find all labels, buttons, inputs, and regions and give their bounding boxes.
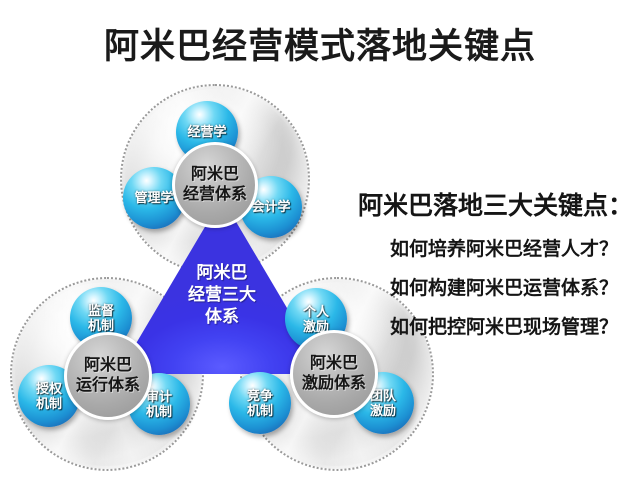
hub-label: 阿米巴 运行体系 — [76, 356, 140, 396]
sphere-incentive-left[interactable]: 竞争 机制 — [229, 372, 291, 434]
hub-label: 阿米巴 经营体系 — [183, 165, 247, 205]
sphere-label-line-1: 个人 — [303, 304, 329, 319]
slide-canvas: 阿米巴经营模式落地关键点 阿米巴 经营三大 体系 经营学 管理学 — [0, 0, 640, 480]
hub-label: 阿米巴 激励体系 — [302, 354, 366, 394]
key-points-panel: 阿米巴落地三大关键点： 如何培养阿米巴经营人才？ 如何构建阿米巴运营体系？ 如何… — [358, 186, 636, 339]
sphere-label: 会计学 — [251, 199, 290, 215]
hub-management-system[interactable]: 阿米巴 经营体系 — [172, 142, 258, 228]
sphere-label-line-1: 管理学 — [134, 190, 173, 206]
sphere-label-line-2: 激励 — [370, 403, 396, 418]
sphere-label-line-1: 监督 — [88, 303, 114, 318]
sphere-label-line-1: 审计 — [146, 389, 172, 404]
sphere-label-line-1: 经营学 — [187, 124, 226, 140]
hub-label-line-2: 激励体系 — [302, 374, 366, 394]
key-points-heading: 阿米巴落地三大关键点： — [358, 186, 636, 222]
sphere-label: 监督 机制 — [88, 303, 114, 333]
sphere-label-line-2: 机制 — [36, 396, 62, 411]
hub-label-line-1: 阿米巴 — [183, 165, 247, 185]
key-point-question-1: 如何培养阿米巴经营人才？ — [358, 234, 636, 261]
hub-label-line-2: 经营体系 — [183, 185, 247, 205]
key-point-question-2: 如何构建阿米巴运营体系？ — [358, 273, 636, 300]
hub-operation-system[interactable]: 阿米巴 运行体系 — [64, 332, 152, 420]
page-title: 阿米巴经营模式落地关键点 — [0, 18, 640, 69]
key-point-question-3: 如何把控阿米巴现场管理？ — [358, 312, 636, 339]
sphere-label: 审计 机制 — [146, 389, 172, 419]
sphere-label: 竞争 机制 — [247, 388, 273, 418]
triangle-label-line-1: 阿米巴 — [118, 262, 326, 284]
sphere-label: 授权 机制 — [36, 381, 62, 411]
sphere-label: 管理学 — [134, 190, 173, 206]
sphere-label-line-2: 机制 — [146, 404, 172, 419]
sphere-label-line-2: 机制 — [88, 318, 114, 333]
sphere-label: 经营学 — [187, 124, 226, 140]
sphere-label-line-1: 会计学 — [251, 199, 290, 215]
hub-label-line-2: 运行体系 — [76, 376, 140, 396]
sphere-label: 个人 激励 — [303, 304, 329, 334]
hub-label-line-1: 阿米巴 — [76, 356, 140, 376]
hub-incentive-system[interactable]: 阿米巴 激励体系 — [290, 330, 378, 418]
sphere-label-line-1: 授权 — [36, 381, 62, 396]
hub-label-line-1: 阿米巴 — [302, 354, 366, 374]
sphere-label-line-1: 竞争 — [247, 388, 273, 403]
sphere-label-line-2: 机制 — [247, 403, 273, 418]
